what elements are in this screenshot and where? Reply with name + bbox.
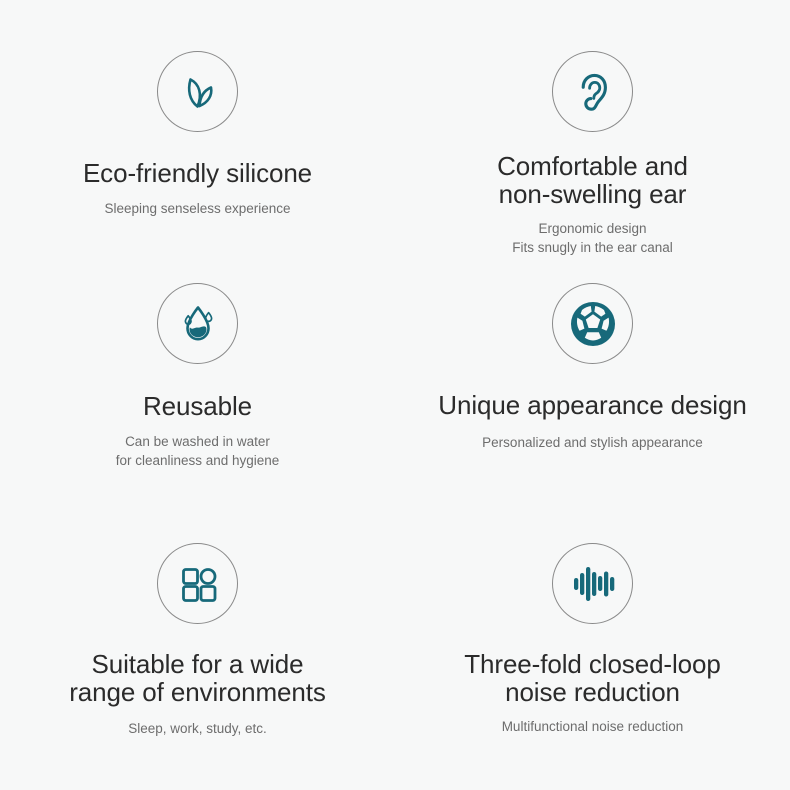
feature-card-three-fold-closed-loop-noise-reduction: Three-fold closed-loop noise reduction M… <box>395 525 790 790</box>
feature-subtitle: Sleeping senseless experience <box>104 199 290 218</box>
icon-circle-ear <box>552 51 633 132</box>
icon-circle-leaf <box>157 51 238 132</box>
icon-circle-soccer-ball <box>552 283 633 364</box>
feature-card-suitable-wide-range-environments: Suitable for a wide range of environment… <box>0 525 395 790</box>
feature-title: Comfortable and non-swelling ear <box>497 152 688 208</box>
ear-icon <box>570 69 616 115</box>
feature-title: Three-fold closed-loop noise reduction <box>464 650 721 706</box>
water-drop-icon <box>174 300 222 348</box>
feature-subtitle: Multifunctional noise reduction <box>502 717 684 736</box>
icon-circle-grid-shapes <box>157 543 238 624</box>
grid-shapes-icon <box>176 562 220 606</box>
feature-subtitle: Sleep, work, study, etc. <box>128 719 267 738</box>
feature-title: Reusable <box>143 392 252 420</box>
icon-circle-sound-wave <box>552 543 633 624</box>
sound-wave-icon <box>569 560 617 608</box>
icon-circle-water-drop <box>157 283 238 364</box>
feature-card-eco-friendly-silicone: Eco-friendly silicone Sleeping senseless… <box>0 0 395 265</box>
feature-grid: Eco-friendly silicone Sleeping senseless… <box>0 0 790 790</box>
feature-subtitle: Ergonomic design Fits snugly in the ear … <box>512 219 673 257</box>
feature-subtitle: Personalized and stylish appearance <box>482 433 703 452</box>
feature-title: Unique appearance design <box>438 391 746 419</box>
feature-title: Eco-friendly silicone <box>83 159 312 187</box>
feature-card-reusable: Reusable Can be washed in water for clea… <box>0 265 395 525</box>
feature-title: Suitable for a wide range of environment… <box>69 650 326 706</box>
feature-card-comfortable-non-swelling-ear: Comfortable and non-swelling ear Ergonom… <box>395 0 790 265</box>
feature-subtitle: Can be washed in water for cleanliness a… <box>116 432 280 470</box>
leaf-icon <box>175 69 221 115</box>
feature-card-unique-appearance-design: Unique appearance design Personalized an… <box>395 265 790 525</box>
soccer-ball-icon <box>567 298 619 350</box>
